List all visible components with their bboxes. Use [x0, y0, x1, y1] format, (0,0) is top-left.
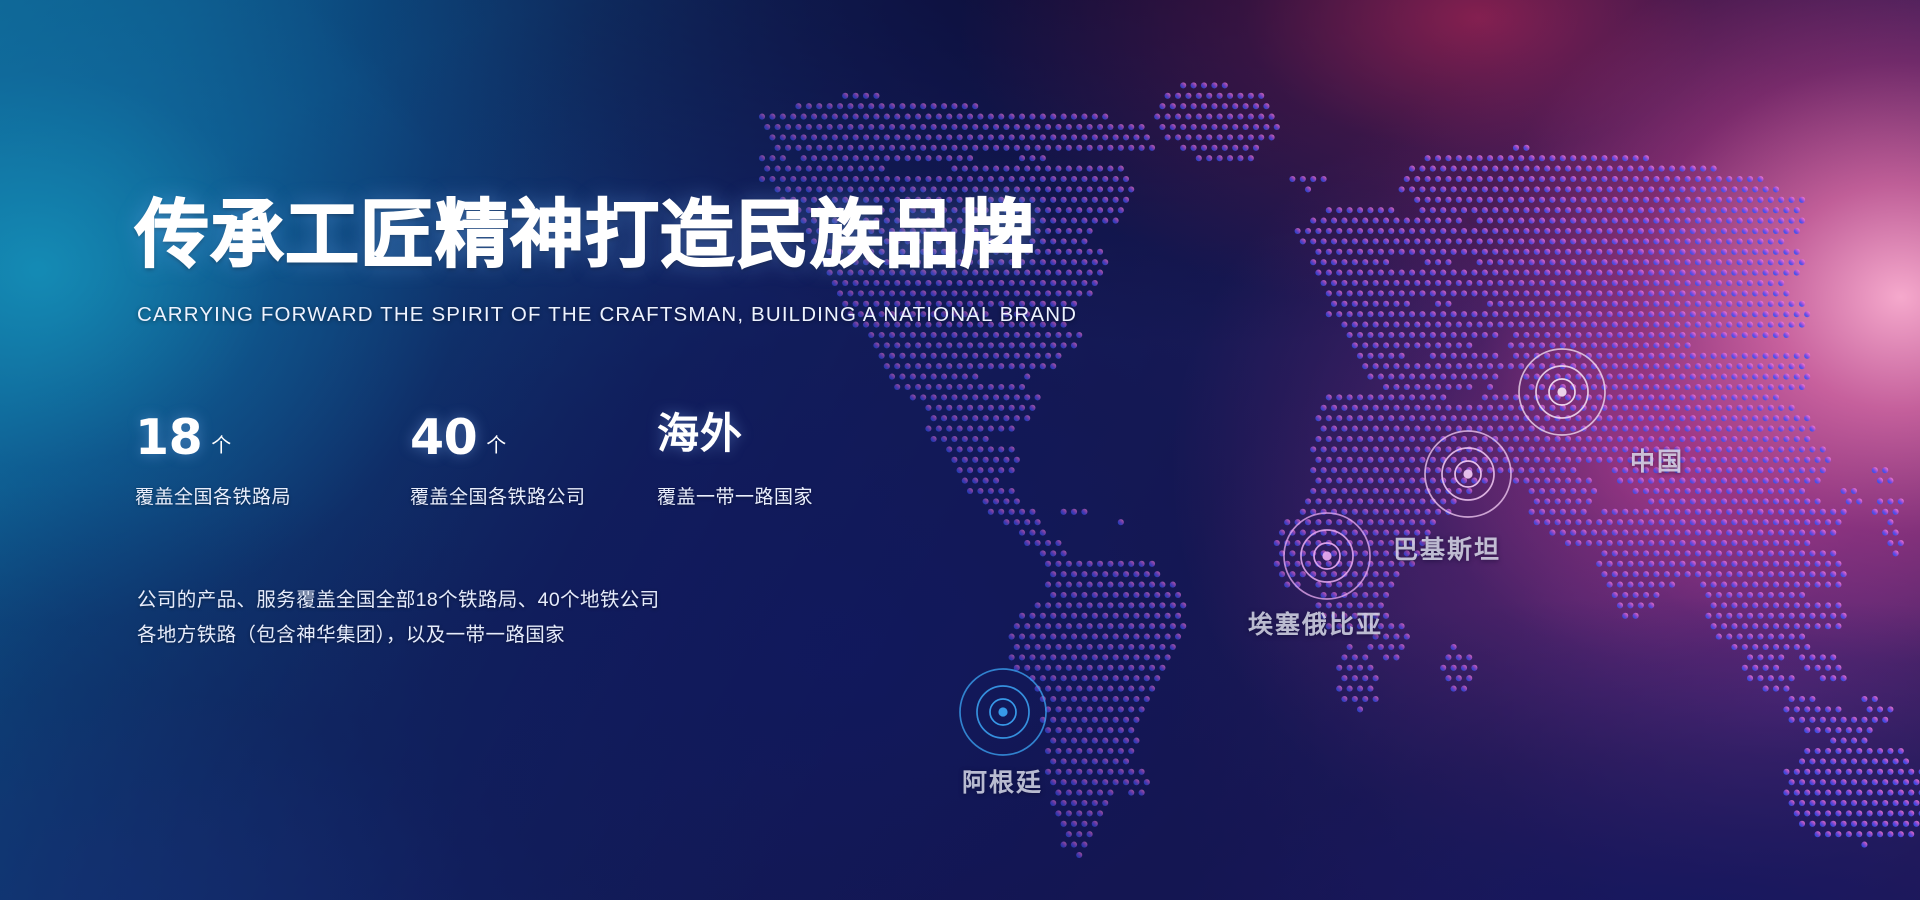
stat-value: 海外: [657, 413, 743, 455]
stat-unit: 个: [486, 429, 506, 458]
marker-rings-icon: [943, 652, 1063, 772]
map-marker-label-argentina: 阿根廷: [962, 763, 1043, 799]
stat-value-row: 海外: [657, 413, 813, 469]
stats-row: 18个覆盖全国各铁路局40个覆盖全国各铁路公司海外覆盖一带一路国家: [135, 413, 813, 509]
stat-value-row: 40个: [410, 413, 657, 469]
stat-label: 覆盖一带一路国家: [657, 482, 813, 509]
stat-item: 18个覆盖全国各铁路局: [135, 413, 410, 509]
marker-rings-icon: [1408, 414, 1528, 534]
map-marker-label-pakistan: 巴基斯坦: [1393, 530, 1501, 566]
stat-value: 18: [135, 413, 202, 462]
stat-item: 海外覆盖一带一路国家: [657, 413, 813, 509]
map-marker-label-ethiopia: 埃塞俄比亚: [1248, 605, 1383, 641]
stat-label: 覆盖全国各铁路公司: [410, 482, 657, 509]
stat-item: 40个覆盖全国各铁路公司: [410, 413, 657, 509]
stat-value: 40: [410, 413, 477, 462]
map-marker-label-china: 中国: [1630, 442, 1684, 478]
description-paragraph: 公司的产品、服务覆盖全国全部18个铁路局、40个地铁公司 各地方铁路（包含神华集…: [137, 583, 660, 654]
map-marker-argentina[interactable]: [943, 652, 1063, 772]
description-line-1: 公司的产品、服务覆盖全国全部18个铁路局、40个地铁公司: [137, 583, 660, 618]
marker-rings-icon: [1267, 496, 1387, 616]
stat-label: 覆盖全国各铁路局: [135, 482, 410, 509]
page-title: 传承工匠精神打造民族品牌: [135, 196, 1035, 276]
map-marker-pakistan[interactable]: [1408, 414, 1528, 534]
page-subtitle: CARRYING FORWARD THE SPIRIT OF THE CRAFT…: [137, 303, 1077, 327]
stat-unit: 个: [211, 429, 231, 458]
map-marker-ethiopia[interactable]: [1267, 496, 1387, 616]
hero-banner: 中国巴基斯坦埃塞俄比亚阿根廷 传承工匠精神打造民族品牌 CARRYING FOR…: [0, 0, 1920, 900]
stat-value-row: 18个: [135, 413, 410, 469]
description-line-2: 各地方铁路（包含神华集团），以及一带一路国家: [137, 618, 660, 653]
